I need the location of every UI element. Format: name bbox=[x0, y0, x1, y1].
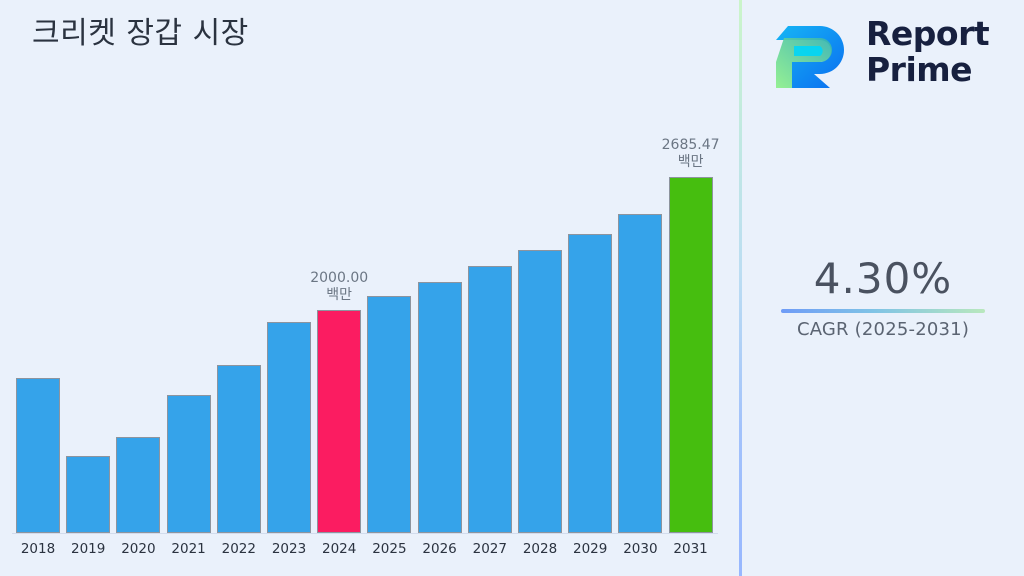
bar-column-2026[interactable] bbox=[418, 100, 462, 533]
bar-2026[interactable] bbox=[418, 282, 462, 533]
right-panel: Report Prime 4.30% CAGR (2025-2031) bbox=[742, 0, 1024, 576]
plot-area: 2000.00백만2685.47백만 bbox=[0, 100, 730, 533]
x-axis-line bbox=[12, 533, 718, 534]
bar-unit-2024: 백만 bbox=[310, 287, 368, 304]
bar-value-label-2031: 2685.47백만 bbox=[662, 137, 720, 171]
bar-2030[interactable] bbox=[618, 214, 662, 533]
bar-2028[interactable] bbox=[518, 250, 562, 533]
chart-slide: 크리켓 장갑 시장 2000.00백만2685.47백만 20182019202… bbox=[0, 0, 1024, 576]
bar-column-2028[interactable] bbox=[518, 100, 562, 533]
bar-2027[interactable] bbox=[468, 266, 512, 533]
bar-chart: 2000.00백만2685.47백만 201820192020202120222… bbox=[0, 100, 730, 576]
x-tick-2031: 2031 bbox=[661, 541, 721, 557]
brand-logo: Report Prime bbox=[766, 12, 1006, 96]
bar-column-2029[interactable] bbox=[568, 100, 612, 533]
bar-2024[interactable] bbox=[317, 310, 361, 533]
cagr-value: 4.30% bbox=[742, 255, 1024, 303]
bar-2021[interactable] bbox=[167, 395, 211, 533]
bar-column-2021[interactable] bbox=[167, 100, 211, 533]
cagr-divider-rule bbox=[781, 309, 985, 313]
bar-column-2019[interactable] bbox=[66, 100, 110, 533]
bar-column-2020[interactable] bbox=[116, 100, 160, 533]
bar-2023[interactable] bbox=[267, 322, 311, 533]
brand-logo-text: Report Prime bbox=[866, 16, 989, 88]
bar-2018[interactable] bbox=[16, 378, 60, 533]
report-prime-logo-mark bbox=[774, 18, 858, 90]
bar-2025[interactable] bbox=[367, 296, 411, 533]
bar-column-2022[interactable] bbox=[217, 100, 261, 533]
page-title: 크리켓 장갑 시장 bbox=[32, 8, 249, 52]
bar-value-label-2024: 2000.00백만 bbox=[310, 270, 368, 304]
bar-value-2024: 2000.00 bbox=[310, 270, 368, 286]
bar-column-2018[interactable] bbox=[16, 100, 60, 533]
bar-2020[interactable] bbox=[116, 437, 160, 533]
bar-value-2031: 2685.47 bbox=[662, 137, 720, 153]
cagr-caption: CAGR (2025-2031) bbox=[742, 319, 1024, 340]
bar-2031[interactable] bbox=[669, 177, 713, 533]
bar-column-2025[interactable] bbox=[367, 100, 411, 533]
bar-2019[interactable] bbox=[66, 456, 110, 533]
bar-2022[interactable] bbox=[217, 365, 261, 533]
bar-column-2031[interactable]: 2685.47백만 bbox=[669, 100, 713, 533]
bar-column-2027[interactable] bbox=[468, 100, 512, 533]
bar-column-2023[interactable] bbox=[267, 100, 311, 533]
bar-2029[interactable] bbox=[568, 234, 612, 533]
bar-column-2024[interactable]: 2000.00백만 bbox=[317, 100, 361, 533]
bar-unit-2031: 백만 bbox=[662, 154, 720, 171]
brand-logo-line-1: Report bbox=[866, 16, 989, 52]
bar-column-2030[interactable] bbox=[618, 100, 662, 533]
brand-logo-line-2: Prime bbox=[866, 52, 989, 88]
x-axis-tick-labels: 2018201920202021202220232024202520262027… bbox=[0, 541, 730, 571]
cagr-block: 4.30% CAGR (2025-2031) bbox=[742, 255, 1024, 340]
